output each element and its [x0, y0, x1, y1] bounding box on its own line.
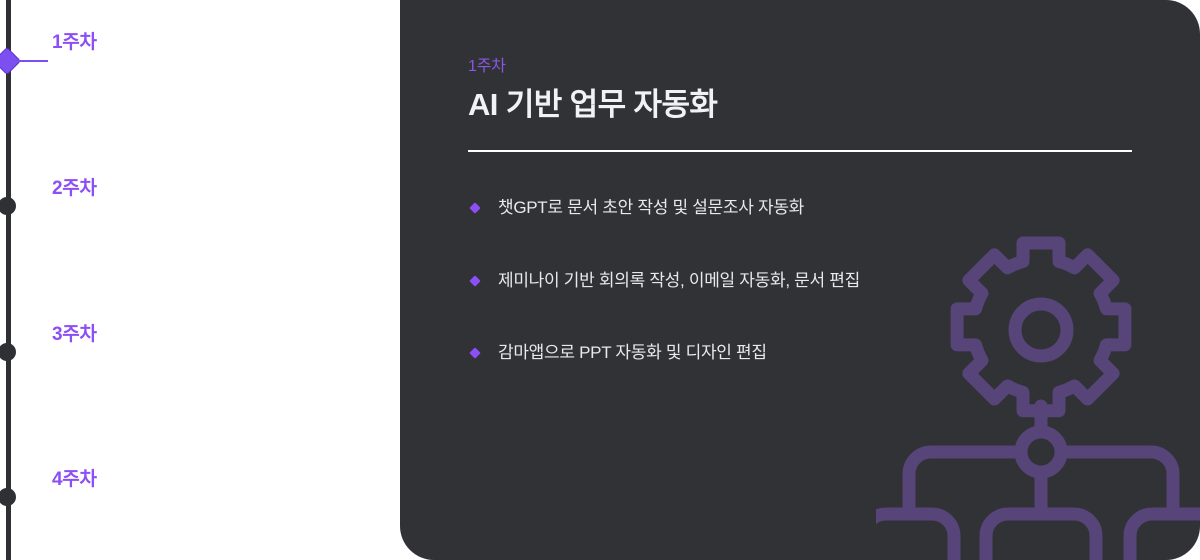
timeline-label-week-3: 3주차	[52, 319, 97, 346]
card-content: 1주차 AI 기반 업무 자동화 챗GPT로 문서 초안 작성 및 설문조사 자…	[400, 0, 1200, 560]
timeline-marker-diamond-icon	[0, 48, 20, 73]
list-item: 챗GPT로 문서 초안 작성 및 설문조사 자동화	[468, 196, 1132, 220]
diamond-bullet-icon	[469, 275, 480, 286]
timeline-marker-dot-icon	[0, 197, 16, 215]
timeline-axis-line	[6, 0, 11, 560]
card-eyebrow-label: 1주차	[468, 52, 1132, 76]
bullet-text: 감마앱으로 PPT 자동화 및 디자인 편집	[498, 341, 767, 365]
content-card: 1주차 AI 기반 업무 자동화 챗GPT로 문서 초안 작성 및 설문조사 자…	[400, 0, 1200, 560]
card-title: AI 기반 업무 자동화	[468, 86, 1132, 125]
title-divider	[468, 150, 1132, 152]
list-item: 제미나이 기반 회의록 작성, 이메일 자동화, 문서 편집	[468, 269, 1132, 293]
timeline-label-week-4: 4주차	[52, 464, 97, 491]
timeline-connector-line	[18, 60, 48, 62]
diamond-bullet-icon	[469, 202, 480, 213]
slide-root: 1주차 2주차 3주차 4주차	[0, 0, 1200, 560]
diamond-bullet-icon	[469, 348, 480, 359]
bullet-list: 챗GPT로 문서 초안 작성 및 설문조사 자동화 제미나이 기반 회의록 작성…	[468, 196, 1132, 365]
timeline-marker-dot-icon	[0, 343, 16, 361]
bullet-text: 챗GPT로 문서 초안 작성 및 설문조사 자동화	[498, 196, 804, 220]
timeline-label-week-1: 1주차	[52, 27, 97, 54]
timeline-marker-dot-icon	[0, 488, 16, 506]
timeline-label-week-2: 2주차	[52, 173, 97, 200]
bullet-text: 제미나이 기반 회의록 작성, 이메일 자동화, 문서 편집	[498, 269, 860, 293]
timeline-sidebar: 1주차 2주차 3주차 4주차	[0, 0, 400, 560]
list-item: 감마앱으로 PPT 자동화 및 디자인 편집	[468, 341, 1132, 365]
